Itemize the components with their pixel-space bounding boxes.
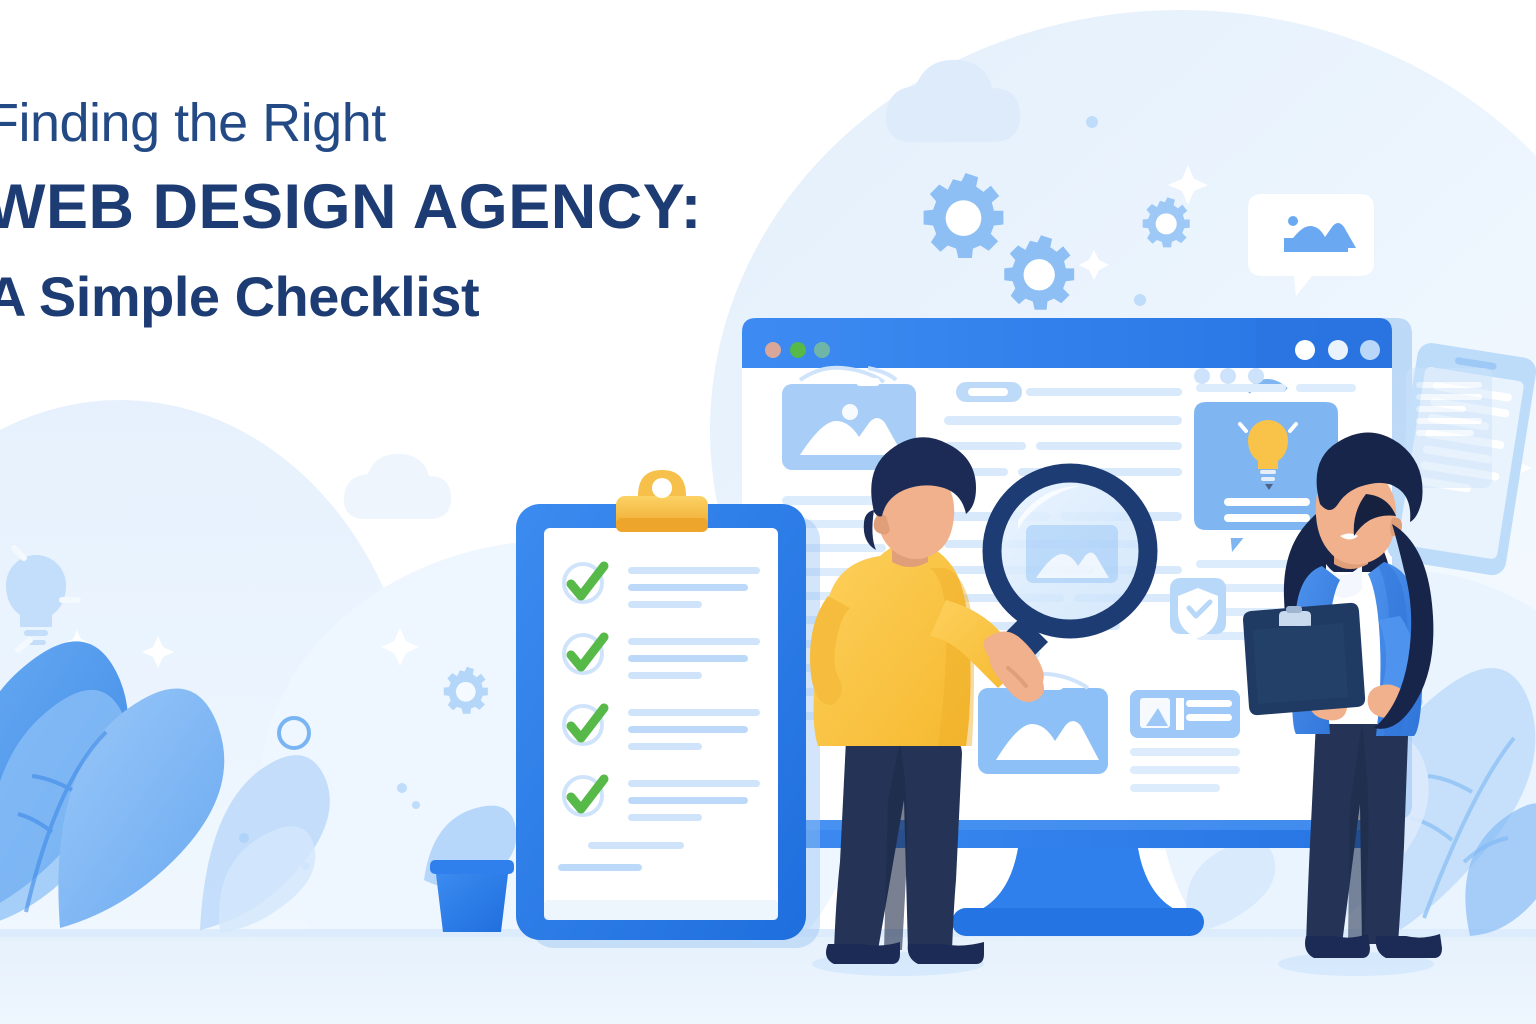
man-shoe: [908, 942, 984, 964]
woman-shoe: [1376, 934, 1442, 958]
woman-clipboard[interactable]: [1243, 603, 1365, 715]
man-shoe: [826, 942, 900, 964]
clipboard-clip: [1279, 611, 1311, 626]
characters-layer: [0, 0, 1536, 1024]
illustration-canvas: Finding the Right WEB DESIGN AGENCY: A S…: [0, 0, 1536, 1024]
woman-shoe: [1305, 934, 1370, 958]
